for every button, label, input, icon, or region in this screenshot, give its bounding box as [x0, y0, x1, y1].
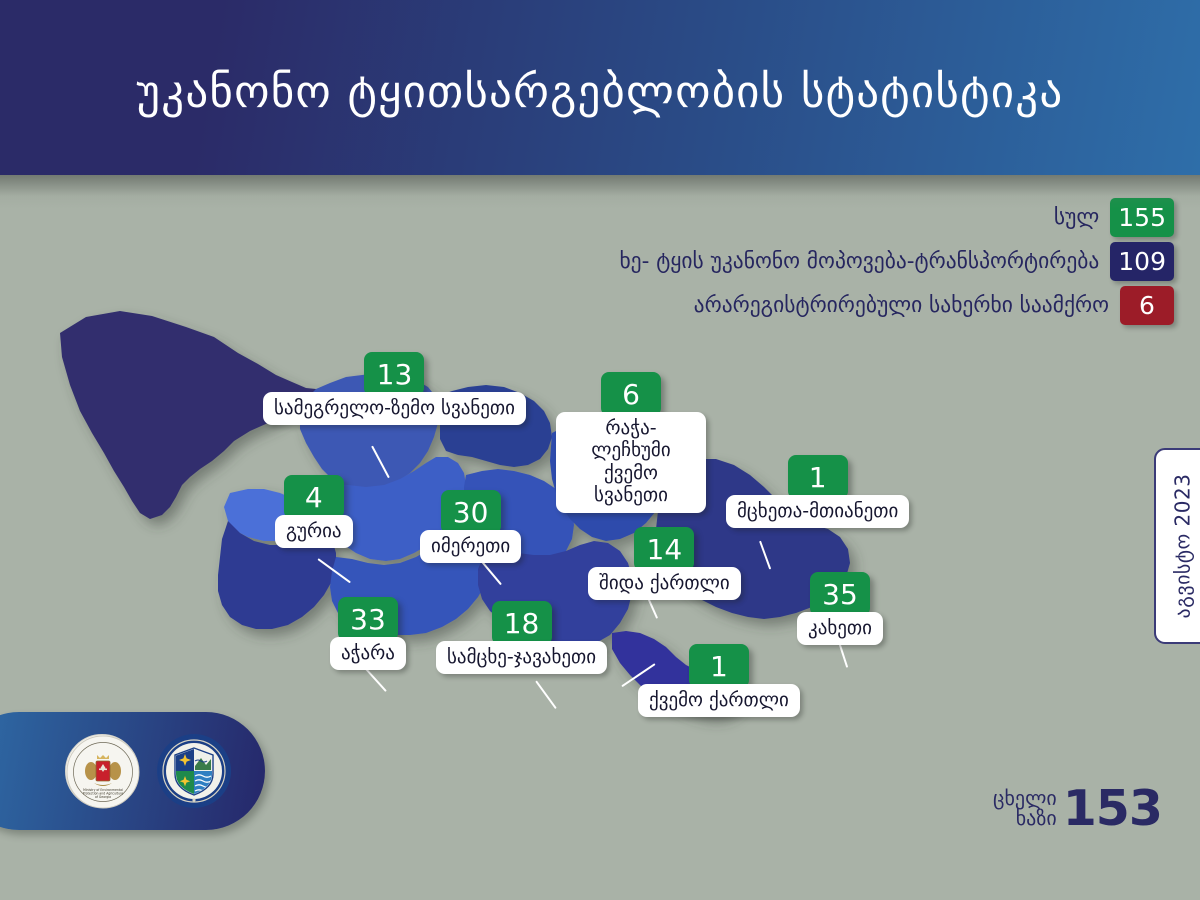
callout-label-samtskhe-javakheti: სამცხე-ჯავახეთი	[436, 641, 607, 674]
legend-row-total: სულ 155	[1054, 198, 1174, 237]
legend-label-illegal-logging-transport: ხე- ტყის უკანონო მოპოვება-ტრანსპორტირება	[619, 249, 1099, 274]
hotline-label: ცხელი ხაზი	[993, 789, 1057, 828]
callout-adjara[interactable]: 33 აჭარა	[330, 597, 406, 670]
date-tab: აგვისტო 2023	[1154, 448, 1200, 644]
callout-value-guria: 4	[284, 475, 344, 519]
callout-value-racha-lechkhumi-kvemo-svaneti: 6	[601, 372, 661, 416]
page-title: უკანონო ტყითსარგებლობის სტატისტიკა	[0, 0, 1200, 175]
supervision-emblem-svg	[157, 734, 231, 808]
svg-text:of Georgia: of Georgia	[95, 795, 111, 799]
legend-label-total: სულ	[1054, 205, 1099, 230]
callout-racha-lechkhumi-kvemo-svaneti[interactable]: 6 რაჭა-ლეჩხუმიქვემო სვანეთი	[556, 372, 706, 513]
legend-row-unregistered-sawmill: არარეგისტრირებული სახერხი საამქრო 6	[694, 286, 1174, 325]
callout-value-mtskheta-mtianeti: 1	[788, 455, 848, 499]
callout-label-samegrelo-zemo-svaneti: სამეგრელო-ზემო სვანეთი	[263, 392, 526, 425]
legend: სულ 155 ხე- ტყის უკანონო მოპოვება-ტრანსპ…	[619, 198, 1174, 325]
callout-shida-kartli[interactable]: 14 შიდა ქართლი	[588, 527, 741, 600]
legend-chip-total: 155	[1110, 198, 1174, 237]
legend-chip-illegal-logging-transport: 109	[1110, 242, 1174, 281]
callout-label-guria: გურია	[275, 515, 353, 548]
callout-value-kvemo-kartli: 1	[689, 644, 749, 688]
legend-chip-unregistered-sawmill: 6	[1120, 286, 1174, 325]
callout-samtskhe-javakheti[interactable]: 18 სამცხე-ჯავახეთი	[436, 601, 607, 674]
hotline-number: 153	[1063, 780, 1162, 837]
callout-value-kakheti: 35	[810, 572, 870, 616]
hotline-label-line2: ხაზი	[993, 809, 1057, 829]
callout-guria[interactable]: 4 გურია	[275, 475, 353, 548]
callout-value-shida-kartli: 14	[634, 527, 694, 571]
ministry-of-environmental-protection-and-agriculture-of-georgia-emblem: Ministry of Environmental Protection and…	[65, 734, 139, 808]
callout-value-samtskhe-javakheti: 18	[492, 601, 552, 645]
callout-mtskheta-mtianeti[interactable]: 1 მცხეთა-მთიანეთი	[726, 455, 909, 528]
callout-value-adjara: 33	[338, 597, 398, 641]
hotline: ცხელი ხაზი 153	[993, 780, 1162, 837]
legend-row-illegal-logging-transport: ხე- ტყის უკანონო მოპოვება-ტრანსპორტირება…	[619, 242, 1174, 281]
callout-label-racha-lechkhumi-kvemo-svaneti: რაჭა-ლეჩხუმიქვემო სვანეთი	[556, 412, 706, 513]
callout-label-adjara: აჭარა	[330, 637, 406, 670]
environmental-supervision-department-emblem	[157, 734, 231, 808]
callout-label-kvemo-kartli: ქვემო ქართლი	[638, 684, 800, 717]
callout-samegrelo-zemo-svaneti[interactable]: 13 სამეგრელო-ზემო სვანეთი	[263, 352, 526, 425]
callout-kvemo-kartli[interactable]: 1 ქვემო ქართლი	[638, 644, 800, 717]
callout-imereti[interactable]: 30 იმერეთი	[420, 490, 521, 563]
infographic-page: უკანონო ტყითსარგებლობის სტატისტიკა სულ 1…	[0, 0, 1200, 900]
ministry-emblem-svg: Ministry of Environmental Protection and…	[66, 735, 140, 809]
date-tab-label: აგვისტო 2023	[1170, 474, 1194, 619]
callout-kakheti[interactable]: 35 კახეთი	[797, 572, 883, 645]
callout-label-shida-kartli: შიდა ქართლი	[588, 567, 741, 600]
logo-pill: Ministry of Environmental Protection and…	[0, 712, 265, 830]
callout-label-mtskheta-mtianeti: მცხეთა-მთიანეთი	[726, 495, 909, 528]
callout-value-samegrelo-zemo-svaneti: 13	[364, 352, 424, 396]
callout-label-kakheti: კახეთი	[797, 612, 883, 645]
callout-value-imereti: 30	[441, 490, 501, 534]
header-banner: უკანონო ტყითსარგებლობის სტატისტიკა	[0, 0, 1200, 175]
legend-label-unregistered-sawmill: არარეგისტრირებული სახერხი საამქრო	[694, 293, 1109, 318]
callout-label-imereti: იმერეთი	[420, 530, 521, 563]
